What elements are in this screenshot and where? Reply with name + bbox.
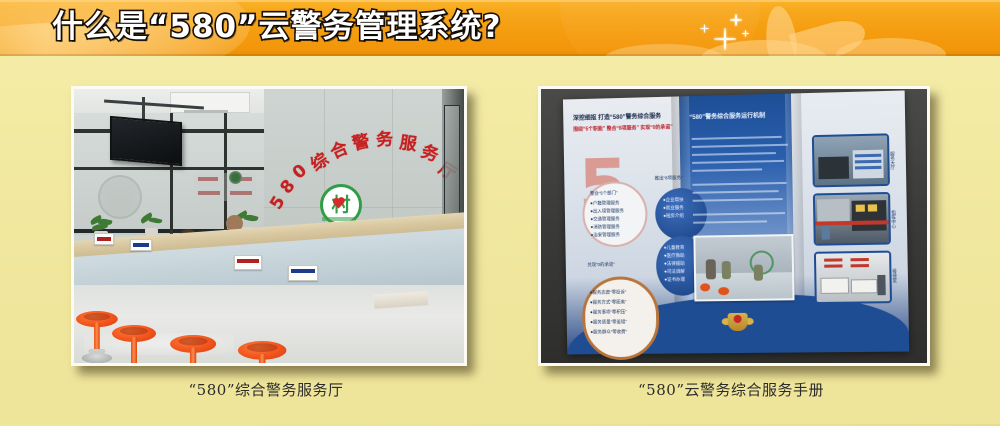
brochure-inset-caption: 指挥中心: [890, 210, 897, 228]
monitor-arm: [142, 97, 145, 121]
photo-service-manual: 深挖细抠 打造“580”警务综合服务 围绕“5个职能” 整合“8项服务” 实现“…: [541, 89, 927, 363]
brochure-bullet: ●消防管理服务: [591, 223, 620, 230]
page-title: 什么是“580”云警务管理系统?: [52, 7, 501, 47]
brochure-bullet: ●服务方式“零距离”: [590, 298, 627, 305]
nameplate-text-bar: [97, 237, 111, 241]
nameplate-text-bar: [133, 243, 149, 247]
brochure-bullet: ●出入境管理服务: [590, 207, 624, 215]
brochure-inset-photo-3: [814, 251, 892, 304]
brochure-inset-caption: 服务大厅: [889, 151, 896, 169]
stool-seat-dish: [120, 327, 148, 335]
stool-post: [259, 354, 266, 363]
sparkle-icon: [742, 30, 749, 37]
banner-bottom-shadow: [0, 54, 1000, 56]
stool-post: [131, 337, 137, 363]
brochure-label-services: 推出“8项服务”: [655, 174, 683, 182]
wall-sign-text-line: [230, 191, 252, 195]
brochure-bullet: ●租房介绍: [663, 212, 684, 219]
wall-sign-text-line: [198, 177, 218, 181]
wall-sign-text-line: [198, 191, 220, 195]
brochure-left-subheading: 围绕“5个职能” 整合“8项服务” 实现“0的承诺”: [573, 123, 673, 132]
header-banner: 什么是“580”云警务管理系统?: [0, 0, 1000, 56]
brochure-bullet: ●医疗救助: [664, 252, 685, 259]
counter-nameplate: [94, 233, 114, 245]
brochure-bullet: ●就业服务: [663, 204, 684, 211]
brochure-bullet: ●户籍管理服务: [590, 199, 619, 206]
brochure-bullet: ●服务态度“零投诉”: [590, 288, 627, 295]
photo-frame-service-hall: 5 8 0 综 合 警 务 服 务 厅 村: [71, 86, 467, 366]
police-emblem-icon: [724, 309, 750, 335]
stool-seat-dish: [84, 313, 111, 321]
brochure-bullet: ●服务事项“零积压”: [590, 308, 627, 315]
nameplate-text-bar: [291, 269, 315, 273]
brochure-left-heading: 深挖细抠 打造“580”警务综合服务: [573, 111, 661, 122]
brochure-bullet: ●证书办理: [664, 276, 685, 283]
wall-sign: [194, 173, 256, 201]
brochure-bullet: ●服务质量“零差错”: [590, 318, 627, 325]
brochure-label-promise: 兑现“0的承诺”: [587, 261, 615, 268]
wall-arc-text: 5 8 0 综 合 警 务 服 务 厅: [270, 117, 460, 227]
counter-nameplate: [130, 239, 152, 251]
sparkle-icon: [730, 14, 742, 26]
wall-monitor: [110, 116, 182, 166]
sparkle-icon: [700, 24, 709, 33]
brochure-bullet: ●服务群众“零收费”: [590, 328, 627, 335]
photo-service-hall: 5 8 0 综 合 警 务 服 务 厅 村: [74, 89, 464, 363]
brochure-inset-photo-hall: [693, 234, 794, 301]
brochure-sheet: 深挖细抠 打造“580”警务综合服务 围绕“5个职能” 整合“8项服务” 实现“…: [563, 90, 909, 354]
counter-nameplate: [288, 265, 318, 281]
brochure-inset-photo-2: [813, 192, 891, 246]
photo-row: 5 8 0 综 合 警 务 服 务 厅 村: [0, 86, 1000, 376]
brochure-bullet: ●儿童教育: [664, 244, 685, 251]
sparkle-icon: [714, 28, 736, 50]
wall-badge-icon: [229, 171, 242, 184]
stool-post: [190, 348, 196, 363]
brochure-bullet: ●法律援助: [664, 260, 685, 267]
stool-seat-dish: [178, 337, 207, 345]
stool-seat-dish: [247, 343, 278, 352]
emblem-star: [734, 315, 742, 323]
brochure-bullet: ●交通管理服务: [590, 215, 619, 222]
brochure-bullet: ●司法调解: [664, 268, 685, 275]
caption-service-manual: “580”云警务综合服务手册: [538, 379, 924, 400]
nameplate-text-bar: [237, 259, 259, 263]
counter-nameplate: [234, 255, 262, 270]
brochure-inset-photo-1: [812, 133, 890, 187]
brochure-middle-heading: “580”警务综合服务运行机制: [689, 110, 765, 121]
poster-page: 什么是“580”云警务管理系统?: [0, 0, 1000, 426]
brochure-bullet: ●企业帮扶: [663, 196, 684, 203]
brochure-bullet: ●治安管理服务: [591, 231, 620, 238]
brochure-label-departments: 整合“5个部门”: [590, 189, 618, 196]
stool-base: [82, 353, 112, 363]
wall-emblem-decor: [98, 175, 142, 219]
brochure-inset-caption: 接待室: [891, 269, 898, 283]
photo-frame-service-manual: 深挖细抠 打造“580”警务综合服务 围绕“5个职能” 整合“8项服务” 实现“…: [538, 86, 930, 366]
caption-service-hall: “580”综合警务服务厅: [71, 379, 461, 400]
